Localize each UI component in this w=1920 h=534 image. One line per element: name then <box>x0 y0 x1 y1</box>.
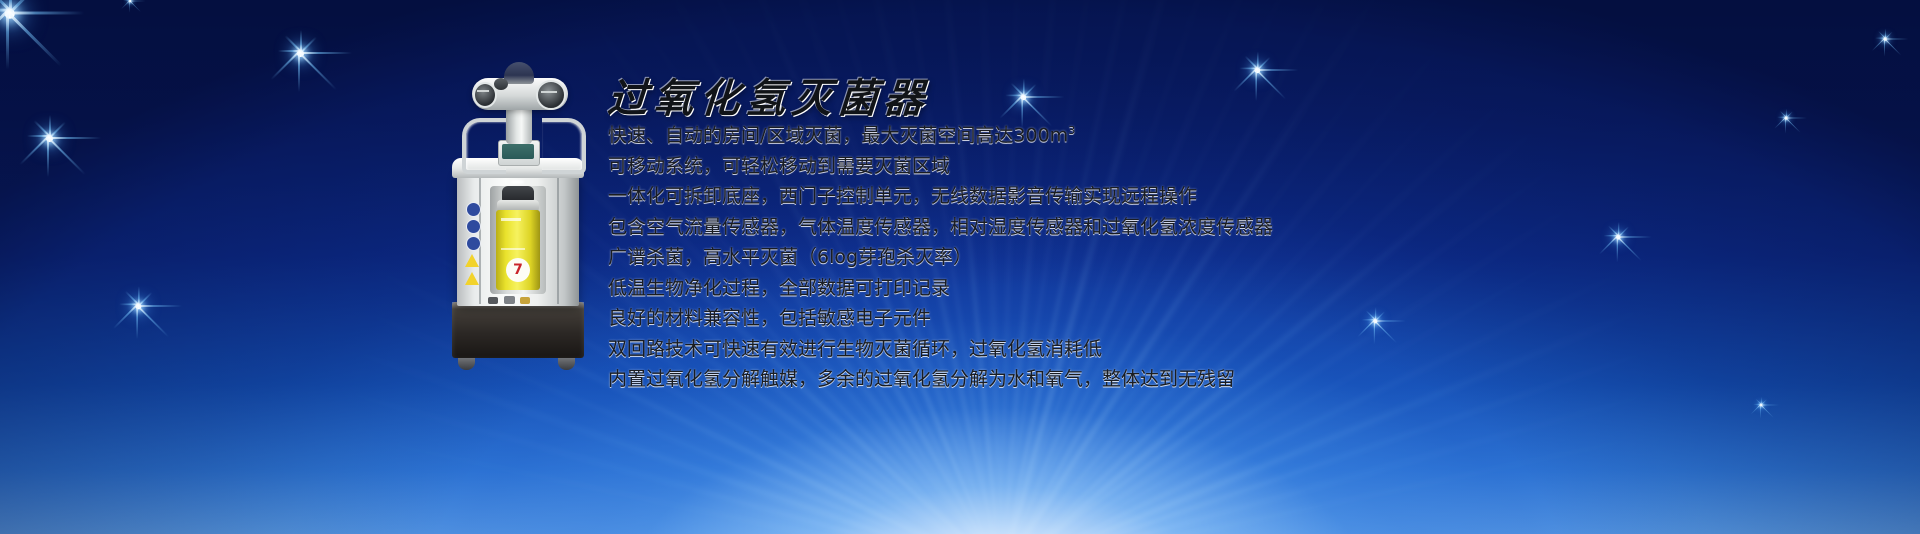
nozzle-dome <box>504 62 534 84</box>
star-ray <box>1005 95 1023 96</box>
star-ray <box>0 10 9 53</box>
star-ray <box>137 305 169 337</box>
star-ray <box>0 10 9 12</box>
star-ray <box>9 12 84 14</box>
feature-list: 快速、自动的房间/区域灭菌，最大灭菌空间高达300m3可移动系统，可轻松移动到需… <box>608 116 1898 395</box>
product-image: 7 <box>446 62 606 374</box>
feature-line: 包含空气流量传感器，气体温度传感器，相对湿度传感器和过氧化氢浓度传感器 <box>608 212 1898 243</box>
safety-blue-mask-icon <box>466 202 481 217</box>
star-ray <box>1878 31 1886 39</box>
sparkle-star <box>1761 405 1762 406</box>
star-ray <box>27 136 49 138</box>
star-ray <box>1885 32 1893 40</box>
light-ray <box>256 415 1000 534</box>
star-ray <box>278 51 300 53</box>
star-ray <box>47 137 49 177</box>
star-ray <box>1011 83 1024 96</box>
nozzle-outlet-right <box>536 80 566 110</box>
star-ray <box>1761 399 1767 405</box>
star-ray <box>300 52 352 54</box>
body-seam-right <box>557 174 559 304</box>
star-ray <box>1761 397 1762 405</box>
star-ray <box>33 121 50 138</box>
star-ray <box>1257 52 1258 70</box>
feature-line: 广谱杀菌，高水平灭菌（6log芽孢杀灭率） <box>608 242 1898 273</box>
feature-line: 可移动系统，可轻松移动到需要灭菌区域 <box>608 151 1898 182</box>
machine-base <box>452 302 584 358</box>
star-ray <box>1885 29 1886 39</box>
star-ray <box>299 52 337 90</box>
star-ray <box>121 0 130 9</box>
star-ray <box>284 36 301 53</box>
star-ray <box>1256 69 1257 101</box>
feature-line: 良好的材料兼容性，包括敏感电子元件 <box>608 303 1898 334</box>
star-ray <box>138 287 139 306</box>
star-core <box>297 50 304 57</box>
handle-right <box>542 118 586 174</box>
star-core <box>1254 67 1260 73</box>
sparkle-star <box>130 1 131 2</box>
sparkle-star <box>1256 69 1258 71</box>
star-ray <box>300 30 302 52</box>
nozzle-vent-slats-left <box>477 90 489 92</box>
star-ray <box>1023 84 1036 97</box>
star-ray <box>0 0 11 12</box>
star-ray <box>130 1 141 12</box>
star-ray <box>1872 38 1885 51</box>
star-core <box>1020 94 1026 100</box>
star-ray <box>1884 39 1885 57</box>
star-core <box>135 303 141 309</box>
sparkle-star <box>8 12 11 15</box>
star-ray <box>7 12 62 67</box>
star-ray <box>1884 39 1901 56</box>
nozzle-vent-slats-right <box>541 91 557 93</box>
star-core <box>129 0 131 2</box>
star-ray <box>49 115 51 137</box>
star-ray <box>300 37 317 54</box>
star-ray <box>271 51 300 80</box>
body-glint <box>510 180 524 184</box>
safety-blue-glove-icon <box>466 236 481 251</box>
star-ray <box>130 0 135 1</box>
star-ray <box>49 137 101 139</box>
star-ray <box>298 52 300 92</box>
feature-line: 一体化可拆卸底座，西门子控制单元，无线数据影音传输实现远程操作 <box>608 181 1898 212</box>
star-ray <box>1875 38 1885 39</box>
front-port-1 <box>488 297 498 304</box>
star-ray <box>1760 405 1761 419</box>
feature-superscript: 3 <box>1068 124 1075 137</box>
safety-blue-noentry-icon <box>466 219 481 234</box>
star-ray <box>125 291 139 305</box>
feature-line: 低温生物净化过程，全部数据可打印记录 <box>608 273 1898 304</box>
star-ray <box>1239 68 1257 69</box>
star-core <box>1883 37 1886 40</box>
star-ray <box>9 0 33 13</box>
warning-triangle-icon-2 <box>465 272 479 285</box>
star-ray <box>1256 69 1286 99</box>
star-ray <box>138 292 152 306</box>
star-ray <box>1761 405 1774 418</box>
light-ray <box>999 415 1743 534</box>
bottle-label-text-2 <box>501 248 525 250</box>
sparkle-star <box>1885 39 1886 40</box>
star-ray <box>1885 39 1908 40</box>
star-ray <box>20 136 49 165</box>
feature-line: 内置过氧化氢分解触媒，多余的过氧化氢分解为水和氧气，整体达到无残留 <box>608 364 1898 395</box>
star-ray <box>9 0 11 12</box>
star-ray <box>1257 57 1270 70</box>
feature-line: 快速、自动的房间/区域灭菌，最大灭菌空间高达300m3 <box>608 116 1898 151</box>
bottle-label-text <box>501 218 521 221</box>
control-screen-display <box>502 144 534 159</box>
star-ray <box>1245 56 1258 69</box>
star-ray <box>1761 405 1779 406</box>
star-ray <box>1023 79 1024 97</box>
bottle-number-badge: 7 <box>506 258 530 282</box>
star-ray <box>49 122 66 139</box>
sparkle-star <box>137 305 139 307</box>
star-core <box>46 135 53 142</box>
sparkle-star <box>299 52 301 54</box>
star-ray <box>48 137 86 175</box>
star-core <box>4 8 14 18</box>
star-ray <box>119 304 138 305</box>
star-ray <box>1233 68 1257 92</box>
star-core <box>1760 404 1762 406</box>
star-ray <box>137 305 138 339</box>
star-ray <box>1257 69 1299 70</box>
front-port-2 <box>504 296 515 304</box>
feature-line: 双回路技术可快速有效进行生物灭菌循环，过氧化氢消耗低 <box>608 334 1898 365</box>
nozzle-knob <box>494 78 508 90</box>
star-ray <box>138 305 182 306</box>
star-ray <box>1751 404 1761 414</box>
sparkle-star <box>1022 96 1024 98</box>
star-ray <box>7 12 9 70</box>
warning-triangle-icon <box>465 254 479 267</box>
star-ray <box>1753 404 1761 405</box>
product-banner: 7 过氧化氢灭菌器 快速、自动的房间/区域灭菌，最 <box>0 0 1920 534</box>
star-ray <box>113 304 138 329</box>
star-ray <box>125 0 130 1</box>
star-ray <box>1756 399 1762 405</box>
star-ray <box>1023 96 1065 97</box>
front-port-3 <box>520 297 530 304</box>
sparkle-star <box>48 137 50 139</box>
